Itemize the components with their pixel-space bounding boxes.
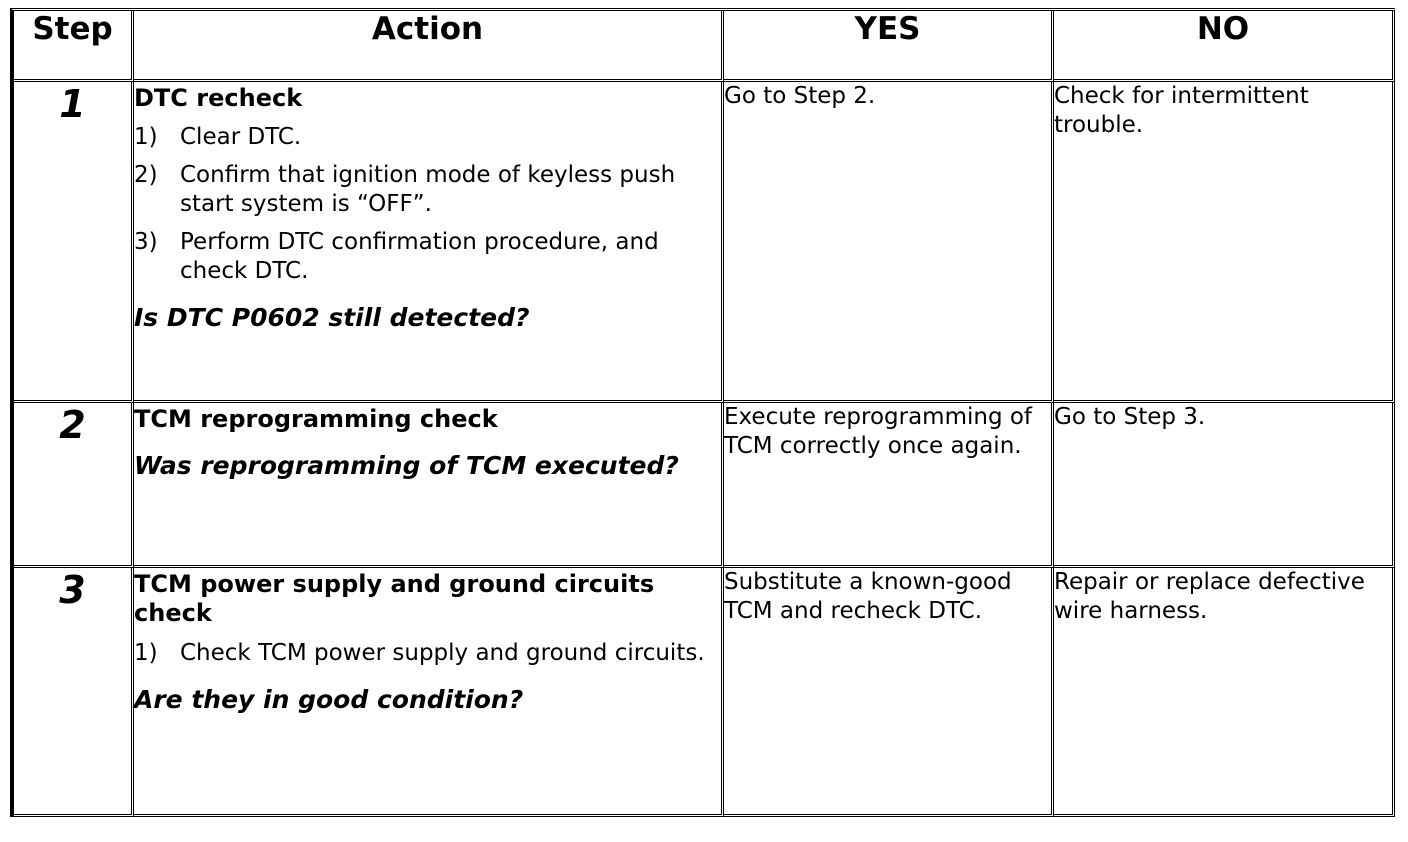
procedure-item: 3) Perform DTC confirmation procedure, a… (134, 228, 721, 287)
diagnostic-troubleshooting-table: Step Action YES NO 1 DTC recheck 1) Clea… (10, 8, 1395, 817)
procedure-text: Check TCM power supply and ground circui… (180, 639, 721, 668)
action-question: Was reprogramming of TCM executed? (134, 450, 721, 481)
procedure-number: 1) (134, 123, 180, 152)
action-cell: TCM reprogramming check Was reprogrammin… (134, 403, 724, 568)
step-number: 3 (14, 568, 134, 817)
column-header-yes: YES (724, 11, 1054, 82)
table-row: 2 TCM reprogramming check Was reprogramm… (14, 403, 1395, 568)
procedure-text: Confirm that ignition mode of keyless pu… (180, 161, 721, 220)
procedure-list: 1) Clear DTC. 2) Confirm that ignition m… (134, 123, 721, 286)
column-header-no: NO (1054, 11, 1395, 82)
action-title: TCM reprogramming check (134, 405, 721, 434)
procedure-list: 1) Check TCM power supply and ground cir… (134, 639, 721, 668)
procedure-item: 1) Check TCM power supply and ground cir… (134, 639, 721, 668)
action-cell: TCM power supply and ground circuits che… (134, 568, 724, 817)
procedure-item: 2) Confirm that ignition mode of keyless… (134, 161, 721, 220)
column-header-action: Action (134, 11, 724, 82)
yes-answer-cell: Execute reprogramming of TCM correctly o… (724, 403, 1054, 568)
procedure-number: 1) (134, 639, 180, 668)
table-header-row: Step Action YES NO (14, 11, 1395, 82)
action-cell: DTC recheck 1) Clear DTC. 2) Confirm tha… (134, 82, 724, 403)
action-title: DTC recheck (134, 84, 721, 113)
step-number: 2 (14, 403, 134, 568)
yes-answer-cell: Substitute a known-good TCM and recheck … (724, 568, 1054, 817)
action-question: Is DTC P0602 still detected? (134, 302, 721, 333)
table-row: 1 DTC recheck 1) Clear DTC. 2) Confirm t… (14, 82, 1395, 403)
document-page: Step Action YES NO 1 DTC recheck 1) Clea… (0, 0, 1408, 842)
step-number: 1 (14, 82, 134, 403)
procedure-text: Perform DTC confirmation procedure, and … (180, 228, 721, 287)
action-title: TCM power supply and ground circuits che… (134, 570, 721, 629)
procedure-number: 3) (134, 228, 180, 257)
action-question: Are they in good condition? (134, 684, 721, 715)
yes-answer-cell: Go to Step 2. (724, 82, 1054, 403)
column-header-step: Step (14, 11, 134, 82)
no-answer-cell: Check for intermittent trouble. (1054, 82, 1395, 403)
table-row: 3 TCM power supply and ground circuits c… (14, 568, 1395, 817)
procedure-text: Clear DTC. (180, 123, 721, 152)
no-answer-cell: Repair or replace defective wire harness… (1054, 568, 1395, 817)
no-answer-cell: Go to Step 3. (1054, 403, 1395, 568)
procedure-number: 2) (134, 161, 180, 190)
procedure-item: 1) Clear DTC. (134, 123, 721, 152)
